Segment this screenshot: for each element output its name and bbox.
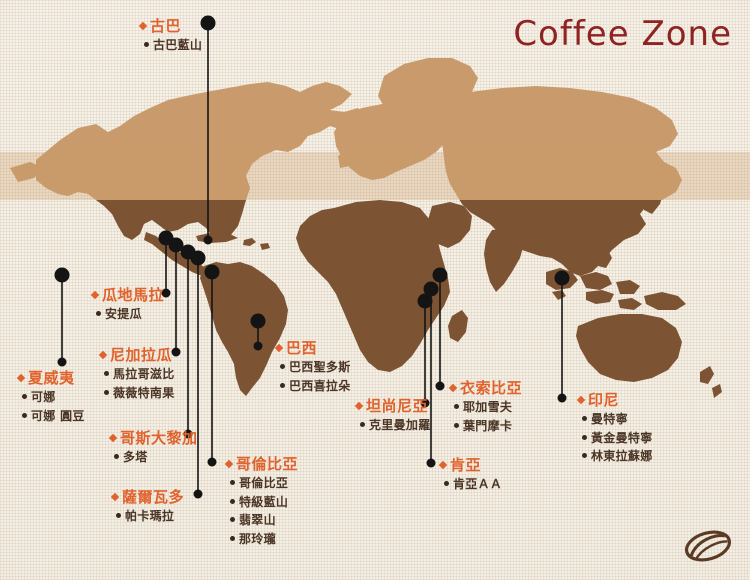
bean-variety-item: 薇薇特南果 [100,384,175,403]
diamond-bullet-icon [99,351,107,359]
bean-variety-item: 巴西聖多斯 [276,358,351,377]
region-label-kenya[interactable]: 肯亞肯亞ＡＡ [440,455,502,494]
page-title: Coffee Zone [513,14,732,54]
round-bullet-icon [582,416,587,421]
map-marker-costa-rica[interactable] [181,245,196,439]
region-name-brazil: 巴西 [276,338,351,358]
round-bullet-icon [22,413,27,418]
bean-variety-item: 林東拉蘇娜 [578,447,653,466]
bean-variety-item: 巴西喜拉朵 [276,377,351,396]
bean-variety-text: 特級藍山 [239,495,288,509]
region-name-text: 薩爾瓦多 [122,488,184,506]
region-name-text: 古巴 [150,17,181,35]
bean-variety-item: 帕卡瑪拉 [112,507,184,526]
bean-variety-item: 古巴藍山 [140,36,202,55]
bean-variety-item: 那玲瓏 [226,530,298,549]
bean-variety-text: 耶加雪夫 [463,400,512,414]
region-name-text: 夏威夷 [28,369,75,387]
map-marker-hawaii[interactable] [55,268,70,367]
label-dot-el-salvador[interactable] [194,490,203,499]
bean-variety-text: 安提瓜 [105,307,142,321]
origin-dot-brazil[interactable] [251,314,266,329]
diamond-bullet-icon [225,460,233,468]
region-label-cuba[interactable]: 古巴古巴藍山 [140,16,202,55]
label-dot-brazil[interactable] [254,342,263,351]
region-name-text: 肯亞 [450,456,481,474]
round-bullet-icon [230,499,235,504]
region-name-text: 尼加拉瓜 [110,346,172,364]
bean-variety-text: 巴西喜拉朵 [289,379,351,393]
bean-variety-text: 可娜 [31,390,56,404]
region-name-text: 坦尚尼亞 [366,397,428,415]
bean-variety-text: 可娜 圓豆 [31,409,85,423]
diamond-bullet-icon [275,344,283,352]
region-name-costa-rica: 哥斯大黎加 [110,428,198,448]
label-dot-colombia[interactable] [208,458,217,467]
diamond-bullet-icon [449,384,457,392]
bean-variety-text: 翡翠山 [239,513,276,527]
origin-dot-colombia[interactable] [205,265,220,280]
region-name-cuba: 古巴 [140,16,202,36]
bean-variety-item: 葉門摩卡 [450,417,522,436]
round-bullet-icon [444,481,449,486]
bean-variety-text: 肯亞ＡＡ [453,477,502,491]
round-bullet-icon [582,435,587,440]
bean-variety-item: 特級藍山 [226,493,298,512]
origin-dot-hawaii[interactable] [55,268,70,283]
origin-dot-ethiopia[interactable] [433,268,448,283]
round-bullet-icon [96,311,101,316]
diamond-bullet-icon [439,461,447,469]
round-bullet-icon [454,404,459,409]
bean-variety-text: 馬拉哥滋比 [113,367,175,381]
bean-variety-item: 肯亞ＡＡ [440,475,502,494]
round-bullet-icon [280,364,285,369]
region-label-tanzania[interactable]: 坦尚尼亞克里曼加羅 [356,396,431,435]
region-name-ethiopia: 衣索比亞 [450,378,522,398]
region-name-hawaii: 夏威夷 [18,368,85,388]
region-name-nicaragua: 尼加拉瓜 [100,345,175,365]
round-bullet-icon [104,371,109,376]
region-name-text: 巴西 [286,339,317,357]
round-bullet-icon [116,513,121,518]
coffee-zone-infographic: Coffee Zone 古巴古巴藍山夏威夷可娜可娜 圓豆瓜地馬拉安提瓜尼加拉瓜馬… [0,0,750,580]
bean-variety-item: 安提瓜 [92,305,164,324]
bean-variety-text: 曼特寧 [591,412,628,426]
round-bullet-icon [230,480,235,485]
bean-variety-text: 黃金曼特寧 [591,431,653,445]
round-bullet-icon [230,517,235,522]
region-label-indonesia[interactable]: 印尼曼特寧黃金曼特寧林東拉蘇娜 [578,390,653,466]
bean-variety-item: 多塔 [110,448,198,467]
bean-variety-text: 克里曼加羅 [369,418,431,432]
round-bullet-icon [280,383,285,388]
region-name-tanzania: 坦尚尼亞 [356,396,431,416]
round-bullet-icon [360,422,365,427]
round-bullet-icon [454,423,459,428]
region-label-costa-rica[interactable]: 哥斯大黎加多塔 [110,428,198,467]
region-label-nicaragua[interactable]: 尼加拉瓜馬拉哥滋比薇薇特南果 [100,345,175,402]
bean-variety-text: 葉門摩卡 [463,419,512,433]
bean-variety-text: 哥倫比亞 [239,476,288,490]
bean-variety-item: 可娜 [18,388,85,407]
diamond-bullet-icon [139,22,147,30]
coffee-bean-logo [682,526,734,566]
region-name-colombia: 哥倫比亞 [226,454,298,474]
bean-variety-item: 馬拉哥滋比 [100,365,175,384]
region-label-colombia[interactable]: 哥倫比亞哥倫比亞特級藍山翡翠山那玲瓏 [226,454,298,549]
coffee-belt-band [0,152,750,200]
bean-variety-text: 古巴藍山 [153,38,202,52]
bean-variety-item: 哥倫比亞 [226,474,298,493]
round-bullet-icon [582,453,587,458]
region-name-text: 哥斯大黎加 [120,429,198,447]
region-label-ethiopia[interactable]: 衣索比亞耶加雪夫葉門摩卡 [450,378,522,435]
round-bullet-icon [114,454,119,459]
region-name-text: 衣索比亞 [460,379,522,397]
round-bullet-icon [104,390,109,395]
region-label-brazil[interactable]: 巴西巴西聖多斯巴西喜拉朵 [276,338,351,395]
diamond-bullet-icon [109,434,117,442]
bean-variety-text: 薇薇特南果 [113,386,175,400]
diamond-bullet-icon [355,402,363,410]
origin-dot-indonesia[interactable] [555,271,570,286]
region-name-kenya: 肯亞 [440,455,502,475]
round-bullet-icon [22,394,27,399]
origin-dot-cuba[interactable] [201,16,216,31]
bean-variety-item: 耶加雪夫 [450,398,522,417]
map-marker-indonesia[interactable] [555,271,570,403]
diamond-bullet-icon [91,291,99,299]
region-label-el-salvador[interactable]: 薩爾瓦多帕卡瑪拉 [112,487,184,526]
region-name-indonesia: 印尼 [578,390,653,410]
origin-dot-kenya[interactable] [424,282,439,297]
round-bullet-icon [230,536,235,541]
label-dot-hawaii[interactable] [58,358,67,367]
label-dot-kenya[interactable] [427,459,436,468]
bean-variety-item: 翡翠山 [226,511,298,530]
label-dot-indonesia[interactable] [558,394,567,403]
region-name-text: 瓜地馬拉 [102,286,164,304]
region-name-guatemala: 瓜地馬拉 [92,285,164,305]
diamond-bullet-icon [577,396,585,404]
bean-variety-text: 那玲瓏 [239,532,276,546]
region-name-el-salvador: 薩爾瓦多 [112,487,184,507]
bean-variety-text: 巴西聖多斯 [289,360,351,374]
bean-variety-item: 可娜 圓豆 [18,407,85,426]
region-name-text: 哥倫比亞 [236,455,298,473]
label-dot-cuba[interactable] [204,236,213,245]
region-label-hawaii[interactable]: 夏威夷可娜可娜 圓豆 [18,368,85,425]
bean-variety-item: 黃金曼特寧 [578,429,653,448]
label-dot-ethiopia[interactable] [436,382,445,391]
region-label-guatemala[interactable]: 瓜地馬拉安提瓜 [92,285,164,324]
region-name-text: 印尼 [588,391,619,409]
diamond-bullet-icon [17,374,25,382]
bean-variety-item: 曼特寧 [578,410,653,429]
bean-variety-item: 克里曼加羅 [356,416,431,435]
bean-variety-text: 帕卡瑪拉 [125,509,174,523]
origin-dot-el-salvador[interactable] [191,251,206,266]
bean-variety-text: 多塔 [123,450,148,464]
bean-variety-text: 林東拉蘇娜 [591,449,653,463]
diamond-bullet-icon [111,493,119,501]
round-bullet-icon [144,42,149,47]
